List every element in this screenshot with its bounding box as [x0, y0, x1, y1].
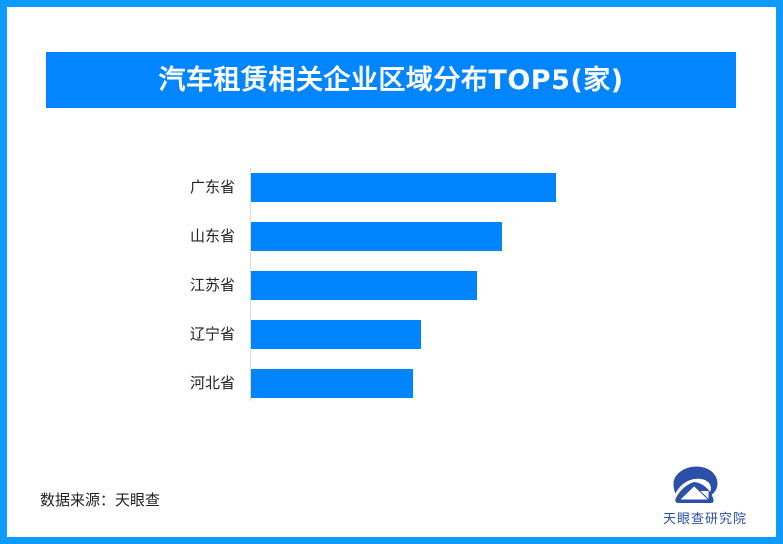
bar-category-label: 江苏省 — [190, 271, 235, 300]
tianyancha-logo-icon — [673, 466, 719, 506]
bar-辽宁省 — [251, 320, 421, 349]
infographic-canvas: 汽车租赁相关企业区域分布TOP5(家) 广东省山东省江苏省辽宁省河北省 数据来源… — [0, 0, 783, 544]
bar-row: 山东省 — [0, 222, 783, 251]
frame-border-bottom — [0, 537, 783, 544]
bar-category-label: 广东省 — [190, 173, 235, 202]
bar-row: 江苏省 — [0, 271, 783, 300]
bar-row: 河北省 — [0, 369, 783, 398]
bar-category-label: 河北省 — [190, 369, 235, 398]
bar-chart: 广东省山东省江苏省辽宁省河北省 — [0, 140, 783, 420]
chart-title: 汽车租赁相关企业区域分布TOP5(家) — [158, 67, 623, 94]
bar-row: 辽宁省 — [0, 320, 783, 349]
bar-row: 广东省 — [0, 173, 783, 202]
frame-border-top — [0, 0, 783, 7]
bar-category-label: 山东省 — [190, 222, 235, 251]
bar-category-label: 辽宁省 — [190, 320, 235, 349]
tianyancha-logo-text: 天眼查研究院 — [655, 508, 755, 527]
title-banner: 汽车租赁相关企业区域分布TOP5(家) — [46, 52, 736, 108]
bar-江苏省 — [251, 271, 477, 300]
tianyancha-logo: 天眼查研究院 — [655, 466, 755, 528]
bar-广东省 — [251, 173, 556, 202]
data-source-note: 数据来源：天眼查 — [40, 489, 160, 510]
bar-山东省 — [251, 222, 502, 251]
bar-河北省 — [251, 369, 413, 398]
